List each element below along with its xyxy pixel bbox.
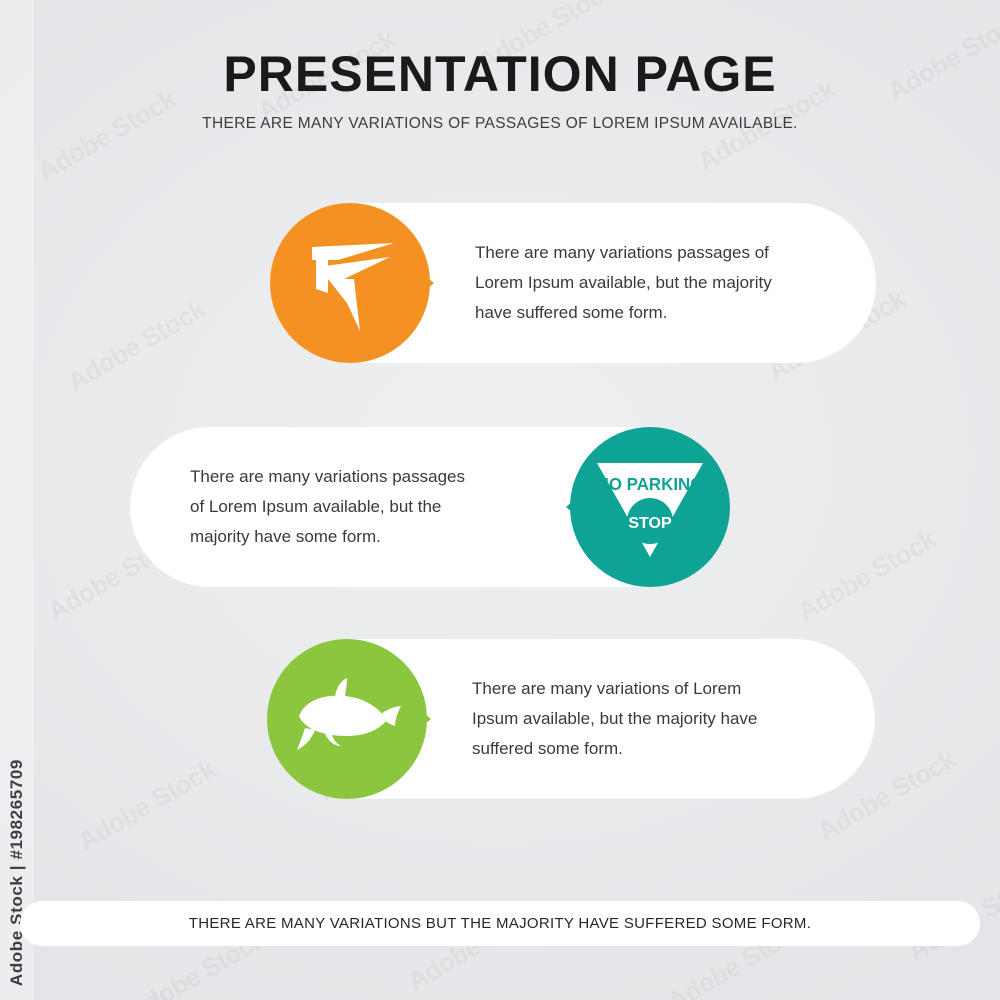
no-parking-label: NO PARKING	[597, 474, 704, 495]
card-icon-bubble[interactable]	[270, 203, 430, 363]
card-text: There are many variations passages of Lo…	[190, 427, 530, 587]
card-fish[interactable]: There are many variations of Lorem Ipsum…	[267, 639, 875, 799]
card-text-line: Lorem Ipsum available, but the majority	[475, 273, 772, 292]
no-parking-sign-icon: NO PARKING STOP	[570, 427, 730, 587]
card-text: There are many variations passages of Lo…	[475, 203, 830, 363]
indian-rupee-icon	[270, 203, 430, 363]
card-text-line: There are many variations passages of	[475, 243, 769, 262]
card-text-line: majority have some form.	[190, 527, 381, 546]
footer-text: THERE ARE MANY VARIATIONS BUT THE MAJORI…	[189, 915, 811, 932]
card-text-line: suffered some form.	[472, 739, 623, 758]
page-subtitle: THERE ARE MANY VARIATIONS OF PASSAGES OF…	[0, 115, 1000, 133]
card-icon-bubble[interactable]: NO PARKING STOP	[570, 427, 730, 587]
card-text-line: of Lorem Ipsum available, but the	[190, 497, 441, 516]
footer-bar: THERE ARE MANY VARIATIONS BUT THE MAJORI…	[20, 901, 980, 946]
fish-icon	[267, 639, 427, 799]
stock-watermark-strip: Adobe Stock | #198265709	[0, 0, 34, 1000]
page-title: PRESENTATION PAGE	[0, 48, 1000, 101]
card-text-line: There are many variations passages	[190, 467, 465, 486]
stop-label: STOP	[628, 515, 672, 532]
card-text-line: have suffered some form.	[475, 303, 667, 322]
card-no-parking[interactable]: NO PARKING STOP There are many variation…	[130, 427, 730, 587]
card-text: There are many variations of Lorem Ipsum…	[472, 639, 829, 799]
card-text-line: Ipsum available, but the majority have	[472, 709, 757, 728]
card-icon-bubble[interactable]	[267, 639, 427, 799]
header: PRESENTATION PAGE THERE ARE MANY VARIATI…	[0, 48, 1000, 133]
stock-watermark-label: Adobe Stock | #198265709	[7, 759, 27, 986]
card-rupee[interactable]: There are many variations passages of Lo…	[270, 203, 876, 363]
card-text-line: There are many variations of Lorem	[472, 679, 741, 698]
